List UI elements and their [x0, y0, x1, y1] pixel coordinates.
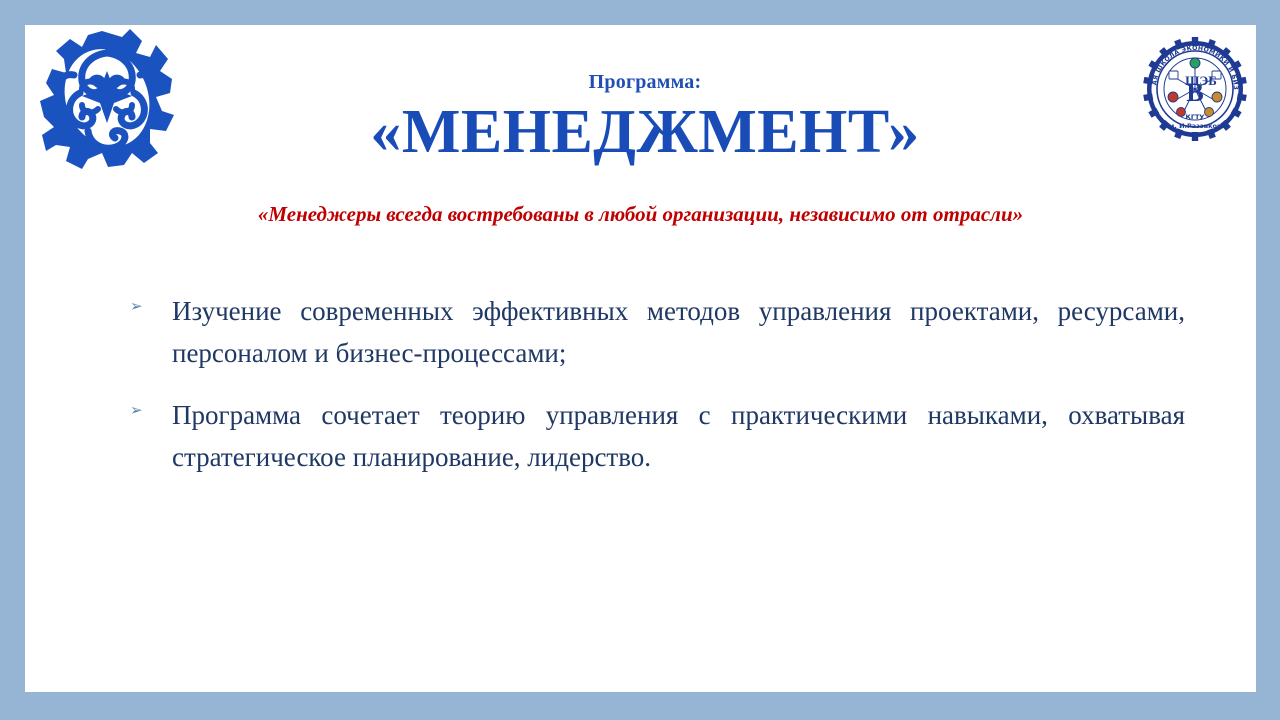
- kyrgyz-ornament-gear-logo: [38, 27, 178, 172]
- title-block: Программа: «МЕНЕДЖМЕНТ»: [165, 70, 1125, 168]
- list-item: ➢ Изучение современных эффективных метод…: [130, 290, 1185, 374]
- bullet-text: Программа сочетает теорию управления с п…: [172, 394, 1185, 478]
- svg-text:ШЭБ: ШЭБ: [1185, 73, 1217, 88]
- program-tagline: «Менеджеры всегда востребованы в любой о…: [25, 201, 1256, 227]
- vsheb-kstu-emblem: ВЫСШАЯ ШКОЛА ЭКОНОМИКИ И БИЗНЕСА: [1143, 27, 1247, 147]
- slide-canvas: Программа: «МЕНЕДЖМЕНТ»: [25, 25, 1256, 692]
- emblem-razzakov-line: им. И.Раззакова: [1165, 122, 1226, 130]
- bullet-list: ➢ Изучение современных эффективных метод…: [130, 290, 1185, 498]
- page-title: «МЕНЕДЖМЕНТ»: [165, 96, 1125, 168]
- slide-header: Программа: «МЕНЕДЖМЕНТ»: [25, 25, 1256, 225]
- arrow-bullet-icon: ➢: [130, 394, 172, 419]
- list-item: ➢ Программа сочетает теорию управления с…: [130, 394, 1185, 478]
- emblem-kstu-line: КГТУ: [1186, 113, 1205, 121]
- program-label: Программа:: [165, 70, 1125, 94]
- arrow-bullet-icon: ➢: [130, 290, 172, 315]
- bullet-text: Изучение современных эффективных методов…: [172, 290, 1185, 374]
